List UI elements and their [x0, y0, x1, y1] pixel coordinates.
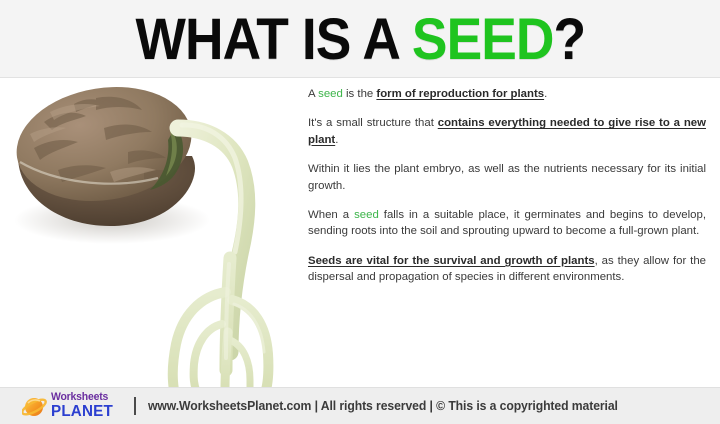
footer-credit-text: www.WorksheetsPlanet.com | All rights re… [148, 399, 618, 413]
brand-line-worksheets: Worksheets [51, 392, 113, 403]
header-banner: WHAT IS A SEED? [0, 0, 720, 78]
article-body: A seed is the form of reproduction for p… [308, 86, 706, 286]
footer-bar: Worksheets PLANET www.WorksheetsPlanet.c… [0, 387, 720, 424]
p1-seg-1: A [308, 88, 318, 100]
planet-logo-icon [22, 394, 48, 418]
p1-seg-5: . [544, 88, 547, 100]
title-text-part1: WHAT IS A [135, 7, 411, 72]
seed-illustration [0, 78, 300, 390]
p2-seg-3: . [335, 134, 338, 146]
brand-line-planet: PLANET [51, 404, 113, 419]
paragraph-3: Within it lies the plant embryo, as well… [308, 161, 706, 194]
page-title: WHAT IS A SEED? [135, 11, 585, 69]
root-left-2 [194, 324, 222, 390]
p1-emphasis: form of reproduction for plants [376, 88, 544, 100]
infographic-page: WHAT IS A SEED? [0, 0, 720, 424]
paragraph-5: Seeds are vital for the survival and gro… [308, 253, 706, 286]
title-highlight-seed: SEED [412, 7, 554, 72]
p3-text: Within it lies the plant embryo, as well… [308, 163, 706, 191]
p4-keyword-seed: seed [354, 209, 379, 221]
p5-emphasis: Seeds are vital for the survival and gro… [308, 255, 595, 267]
brand-wordmark: Worksheets PLANET [51, 392, 113, 419]
paragraph-1: A seed is the form of reproduction for p… [308, 86, 706, 102]
p1-seg-3: is the [343, 88, 377, 100]
p4-seg-1: When a [308, 209, 354, 221]
title-question-mark: ? [553, 7, 585, 72]
paragraph-2: It's a small structure that contains eve… [308, 115, 706, 148]
paragraph-4: When a seed falls in a suitable place, i… [308, 207, 706, 240]
footer-divider [134, 397, 136, 415]
p2-seg-1: It's a small structure that [308, 117, 438, 129]
p1-keyword-seed: seed [318, 88, 343, 100]
brand-logo[interactable]: Worksheets PLANET [22, 392, 116, 419]
